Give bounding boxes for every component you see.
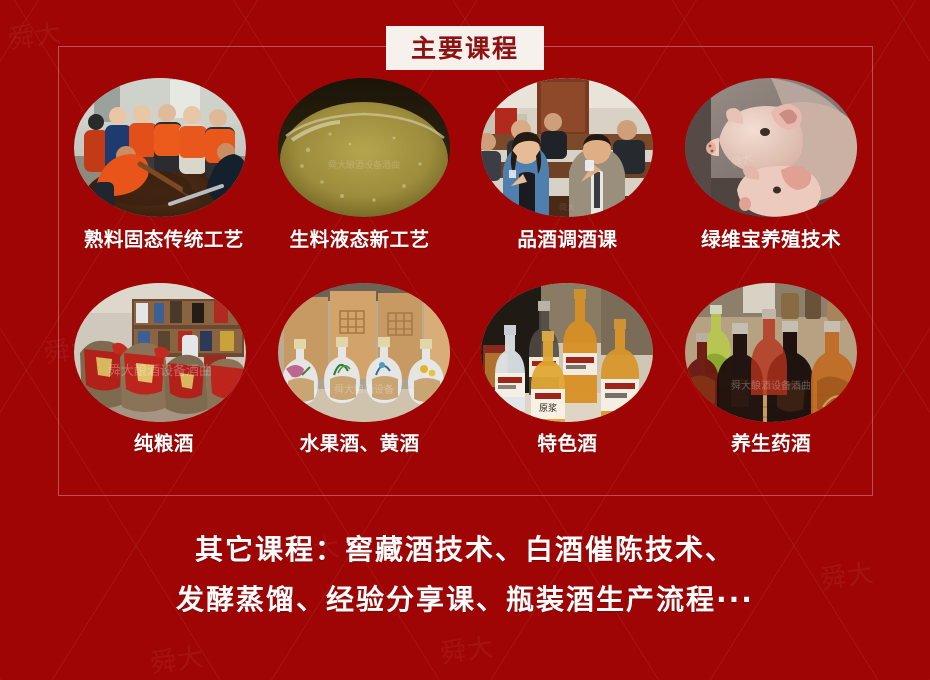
course-item-specialty-liquor[interactable]: 原浆 特色酒 <box>466 283 670 478</box>
course-item-grain-liquor[interactable]: 舜大酿酒设备酒曲 纯粮酒 <box>58 283 262 478</box>
section-title-badge: 主要课程 <box>386 26 544 70</box>
course-label: 纯粮酒 <box>134 433 194 454</box>
course-label: 生料液态新工艺 <box>290 229 430 250</box>
course-grid: 熟料固态传统工艺 <box>58 78 873 478</box>
watermark-text: 舜大 <box>438 626 497 670</box>
course-item-fruit-yellow-wine[interactable]: 舜大酿酒设备 水果酒、黄酒 <box>262 283 466 478</box>
course-label: 养生药酒 <box>731 433 811 454</box>
specialty-liquor-bottles-photo: 原浆 <box>481 283 653 422</box>
course-label: 绿维宝养殖技术 <box>701 229 841 250</box>
workers-mixing-grain-mash-photo <box>74 78 246 217</box>
pigs-in-pen-photo: 舜大 <box>685 78 857 217</box>
fermentation-vat-liquid-photo: 舜大酿酒设备酒曲 <box>278 78 450 217</box>
other-courses-line-1: 其它课程：窖藏酒技术、白酒催陈技术、 <box>0 525 930 575</box>
course-label: 熟料固态传统工艺 <box>84 229 244 250</box>
svg-text:舜大酿酒设备酒曲: 舜大酿酒设备酒曲 <box>731 379 811 392</box>
other-courses-line-2: 发酵蒸馏、经验分享课、瓶装酒生产流程··· <box>0 575 930 625</box>
watermark-text: 舜大 <box>6 12 65 56</box>
course-item-pig-farming[interactable]: 舜大 绿维宝养殖技术 <box>669 78 873 273</box>
svg-text:舜大酿酒设备: 舜大酿酒设备 <box>334 383 394 396</box>
watermark-text: 舜大 <box>148 636 207 680</box>
ceramic-liquor-jars-photo: 舜大酿酒设备酒曲 <box>74 283 246 422</box>
other-courses-note: 其它课程：窖藏酒技术、白酒催陈技术、 发酵蒸馏、经验分享课、瓶装酒生产流程··· <box>0 525 930 625</box>
students-tasting-liquor-photo: 舜大 <box>481 78 653 217</box>
course-label: 特色酒 <box>537 433 597 454</box>
svg-text:舜大酿酒设备酒曲: 舜大酿酒设备酒曲 <box>108 363 212 379</box>
course-item-medicinal-wine[interactable]: 舜大酿酒设备酒曲 养生药酒 <box>669 283 873 478</box>
course-row: 舜大酿酒设备酒曲 纯粮酒 <box>58 283 873 478</box>
promo-page: 舜大 舜大 舜大 舜大 舜大 舜大 舜大 舜大 主要课程 <box>0 0 930 680</box>
medicinal-wine-bottles-photo: 舜大酿酒设备酒曲 <box>685 283 857 422</box>
svg-text:舜大酿酒设备酒曲: 舜大酿酒设备酒曲 <box>328 159 400 171</box>
course-item-tasting-class[interactable]: 舜大 品酒调酒课 <box>466 78 670 273</box>
page-title: 主要课程 <box>411 36 519 61</box>
course-row: 熟料固态传统工艺 <box>58 78 873 273</box>
course-label: 品酒调酒课 <box>517 229 617 250</box>
course-item-workers-mixing[interactable]: 熟料固态传统工艺 <box>58 78 262 273</box>
painted-glass-bottles-photo: 舜大酿酒设备 <box>278 283 450 422</box>
course-item-fermentation-vat[interactable]: 舜大酿酒设备酒曲 生料液态新工艺 <box>262 78 466 273</box>
svg-text:舜大: 舜大 <box>559 202 575 212</box>
course-label: 水果酒、黄酒 <box>300 433 420 454</box>
svg-text:原浆: 原浆 <box>539 402 557 414</box>
